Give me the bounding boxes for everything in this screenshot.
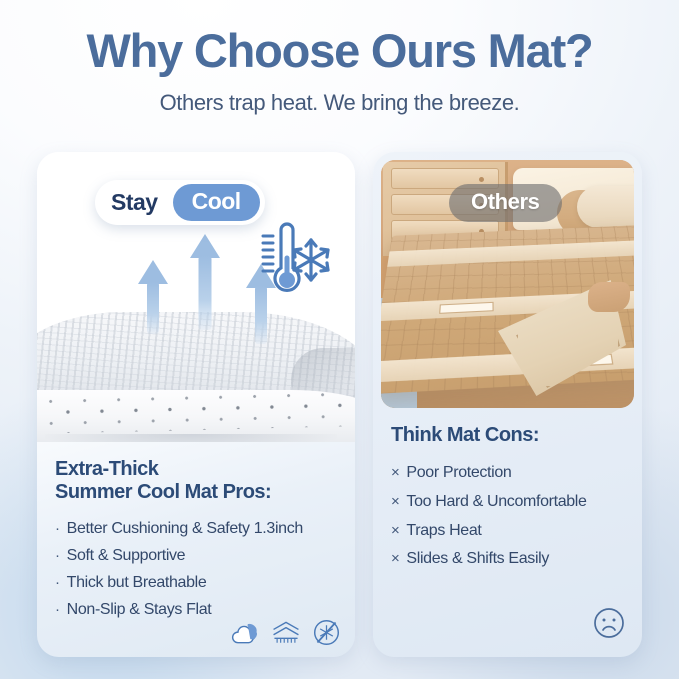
bullet-text: Traps Heat — [406, 520, 481, 543]
hand-lifting-mat — [588, 282, 630, 312]
list-item: · Soft & Supportive — [55, 543, 337, 570]
bullet-marker: × — [391, 548, 399, 569]
cons-card: Others Think Mat Cons: × Poor Protection… — [373, 152, 642, 657]
list-item: · Better Cushioning & Safety 1.3inch — [55, 516, 337, 543]
stay-cool-badge: Stay Cool — [95, 180, 265, 225]
cool-mat-photo: Stay Cool — [37, 152, 355, 442]
bullet-marker: × — [391, 520, 399, 541]
bolster-pillow — [577, 186, 634, 228]
comparison-cards: Stay Cool Extra-Thick Summer Cool Mat Pr… — [37, 152, 642, 657]
badge-word-stay: Stay — [111, 189, 173, 216]
list-item: × Slides & Shifts Easily — [391, 545, 624, 574]
bullet-text: Thick but Breathable — [67, 572, 207, 595]
list-item: × Poor Protection — [391, 459, 624, 488]
bullet-marker: × — [391, 491, 399, 512]
bullet-text: Too Hard & Uncomfortable — [406, 491, 586, 514]
feature-icon-strip — [230, 618, 341, 647]
cons-title: Think Mat Cons: — [391, 424, 624, 447]
list-item: × Traps Heat — [391, 517, 624, 546]
page-subtitle: Others trap heat. We bring the breeze. — [0, 90, 679, 116]
pros-list: · Better Cushioning & Safety 1.3inch · S… — [55, 516, 337, 623]
bullet-marker: × — [391, 462, 399, 483]
badge-word-cool: Cool — [173, 184, 260, 221]
bullet-marker: · — [55, 545, 60, 566]
soft-cloud-icon — [230, 619, 260, 647]
page-title: Why Choose Ours Mat? — [0, 26, 679, 76]
cons-list: × Poor Protection × Too Hard & Uncomfort… — [391, 459, 624, 574]
pros-title: Extra-Thick Summer Cool Mat Pros: — [55, 458, 337, 504]
header: Why Choose Ours Mat? Others trap heat. W… — [0, 26, 679, 116]
pros-card: Stay Cool Extra-Thick Summer Cool Mat Pr… — [37, 152, 355, 657]
thermometer-snowflake-icon — [237, 214, 333, 310]
list-item: · Thick but Breathable — [55, 570, 337, 597]
others-badge: Others — [449, 184, 562, 222]
list-item: × Too Hard & Uncomfortable — [391, 488, 624, 517]
bullet-marker: · — [55, 518, 60, 539]
others-mat-photo: Others — [381, 160, 634, 408]
bullet-text: Non-Slip & Stays Flat — [67, 599, 212, 622]
bullet-text: Soft & Supportive — [67, 545, 186, 568]
infographic-page: Why Choose Ours Mat? Others trap heat. W… — [0, 0, 679, 679]
bullet-text: Better Cushioning & Safety 1.3inch — [67, 518, 303, 541]
mat-stripe — [387, 239, 634, 267]
pros-text-block: Extra-Thick Summer Cool Mat Pros: · Bett… — [37, 442, 355, 657]
bullet-text: Poor Protection — [406, 462, 511, 485]
sad-face-icon — [592, 606, 626, 645]
anti-mite-icon — [312, 618, 341, 647]
bullet-marker: · — [55, 572, 60, 593]
bullet-text: Slides & Shifts Easily — [406, 548, 549, 571]
pad-drop-shadow — [45, 434, 337, 442]
cons-text-block: Think Mat Cons: × Poor Protection × Too … — [373, 408, 642, 657]
breathable-layers-icon — [270, 619, 302, 647]
bullet-marker: · — [55, 599, 60, 620]
